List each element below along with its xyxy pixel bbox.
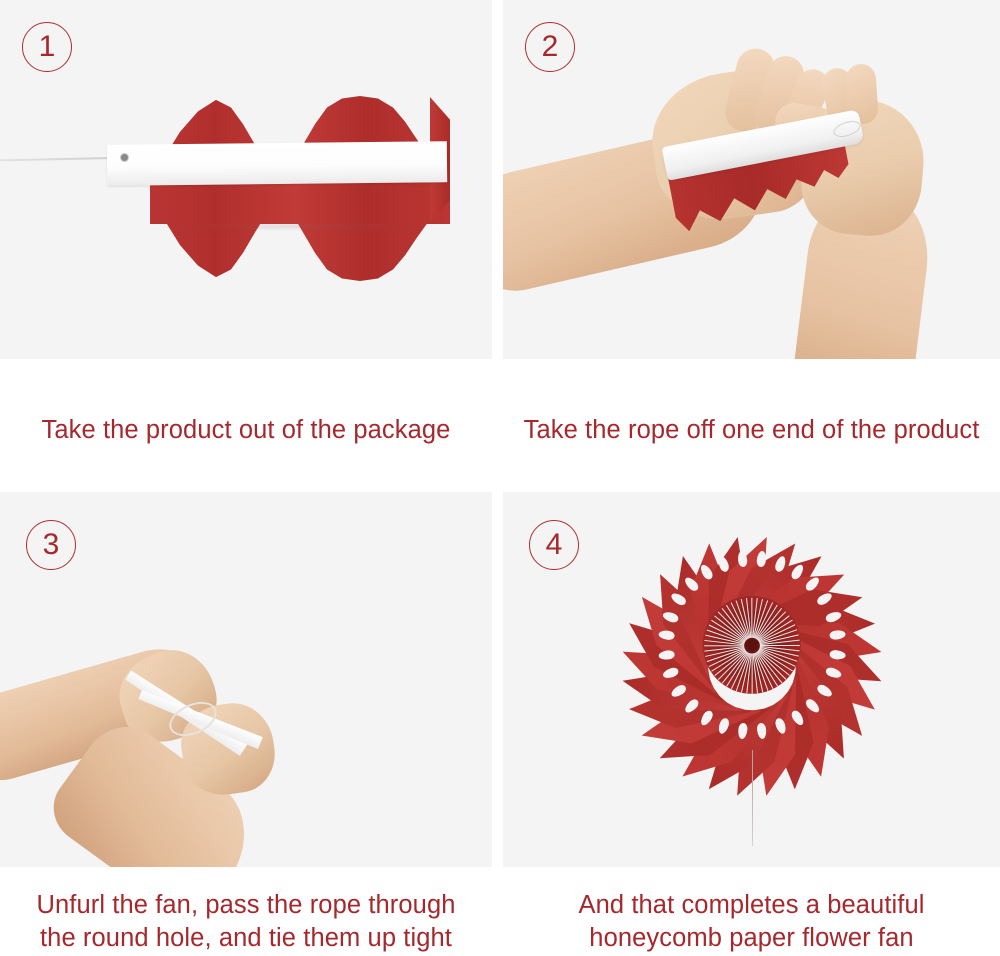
fan-center-slit [704, 645, 744, 646]
step-number-badge-4: 4 [529, 520, 579, 570]
step-card-4: 4 And that completes a beautiful honeyco… [503, 492, 1000, 956]
white-card-strip [107, 141, 447, 186]
hanging-string [0, 157, 112, 161]
step-photo-2: 2 [503, 0, 1000, 359]
step-caption-2: Take the rope off one end of the product [503, 359, 1000, 492]
folded-fan-illustration [0, 0, 492, 359]
step-card-2: 2 Take the rope off one en [503, 0, 1000, 492]
step-photo-1: 1 [0, 0, 492, 359]
instruction-sheet: 1 Take the product out of the package 2 [0, 0, 1000, 956]
step-number-badge-1: 1 [22, 22, 72, 72]
step-caption-1: Take the product out of the package [0, 359, 492, 492]
steps-grid: 1 Take the product out of the package 2 [0, 0, 1000, 956]
step-photo-3: 3 [0, 492, 492, 867]
fan-hub [746, 639, 758, 651]
eyelet-hole-icon [121, 154, 128, 161]
drop-shadow [160, 222, 440, 231]
fan-center-slit [751, 654, 752, 694]
step-caption-4: And that completes a beautiful honeycomb… [503, 867, 1000, 956]
finished-fan [629, 522, 875, 768]
step-number-badge-2: 2 [525, 22, 575, 72]
hanging-thread [752, 750, 753, 846]
step-number-badge-3: 3 [26, 520, 76, 570]
step-card-3: 3 Unfurl the fan, pass the rope through … [0, 492, 492, 956]
step-caption-3: Unfurl the fan, pass the rope through th… [0, 867, 492, 956]
step-photo-4: 4 [503, 492, 1000, 867]
step-card-1: 1 Take the product out of the package [0, 0, 492, 492]
